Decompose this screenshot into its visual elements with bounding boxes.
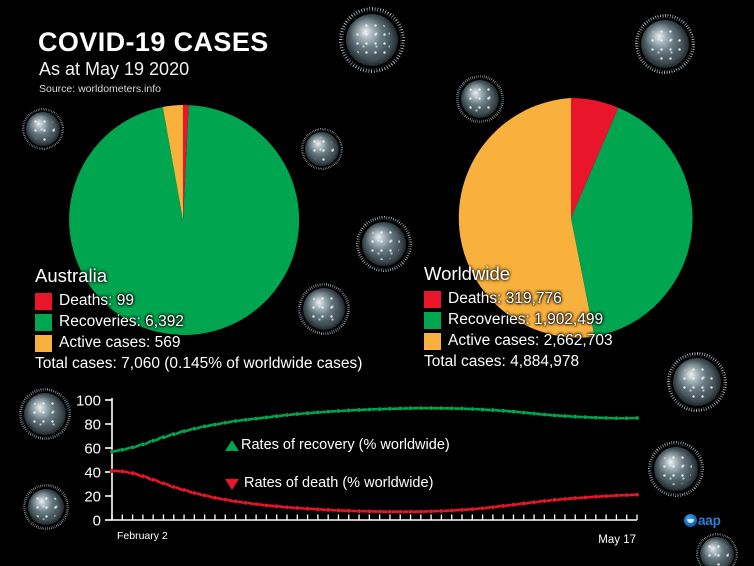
series-marker	[625, 416, 629, 420]
series-marker	[120, 470, 124, 474]
series-marker	[398, 510, 402, 514]
series-marker	[491, 505, 495, 509]
series-marker	[131, 471, 135, 475]
series-marker	[573, 415, 577, 419]
series-marker	[141, 474, 145, 478]
australia-legend: Australia Deaths: 99 Recoveries: 6,392 A…	[35, 265, 362, 373]
series-marker	[151, 439, 155, 443]
infographic-canvas: COVID-19 CASES As at May 19 2020 Source:…	[0, 0, 754, 566]
triangle-down-icon	[225, 479, 239, 490]
series-marker	[604, 416, 608, 420]
series-marker	[625, 493, 629, 497]
series-marker	[501, 504, 505, 508]
series-marker	[295, 506, 299, 510]
legend-row: Deaths: 319,776	[424, 289, 613, 309]
legend-row: Active cases: 2,662,703	[424, 331, 613, 351]
series-marker	[203, 425, 207, 429]
series-marker	[532, 500, 536, 504]
y-axis-tick-label: 80	[84, 417, 101, 434]
series-marker	[326, 410, 330, 414]
series-marker	[419, 510, 423, 514]
series-marker	[378, 407, 382, 411]
series-marker	[553, 498, 557, 502]
series-marker	[367, 408, 371, 412]
worldwide-active-label: Active cases: 2,662,703	[448, 332, 613, 350]
y-axis-tick-label: 100	[76, 393, 101, 410]
series-marker	[491, 408, 495, 412]
series-marker	[285, 505, 289, 509]
series-marker	[110, 450, 114, 454]
series-marker	[460, 407, 464, 411]
recoveries-swatch	[35, 314, 52, 331]
aap-logo: aap	[684, 513, 721, 528]
worldwide-total-label: Total cases: 4,884,978	[424, 353, 613, 371]
legend-row: Recoveries: 1,902,499	[424, 310, 613, 330]
active-swatch	[35, 335, 52, 352]
series-marker	[357, 509, 361, 513]
series-marker	[615, 494, 619, 498]
aap-logo-text: aap	[698, 513, 721, 528]
series-marker	[182, 429, 186, 433]
series-marker	[512, 410, 516, 414]
series-marker	[512, 503, 516, 507]
worldwide-recoveries-label: Recoveries: 1,902,499	[448, 311, 603, 329]
series-marker	[553, 413, 557, 417]
y-axis-tick-label: 0	[93, 513, 101, 530]
series-marker	[522, 411, 526, 415]
series-marker	[635, 493, 639, 497]
series-marker	[440, 509, 444, 513]
series-marker	[563, 414, 567, 418]
series-marker	[275, 504, 279, 508]
series-marker	[470, 507, 474, 511]
series-marker	[151, 478, 155, 482]
series-marker	[470, 407, 474, 411]
australia-active-label: Active cases: 569	[59, 334, 180, 352]
series-marker	[542, 413, 546, 417]
series-marker	[182, 488, 186, 492]
deaths-swatch	[35, 293, 52, 310]
worldwide-legend-title: Worldwide	[424, 263, 613, 285]
series-marker	[162, 435, 166, 439]
series-marker	[306, 507, 310, 511]
y-axis-tick-label: 60	[84, 441, 101, 458]
series-marker	[275, 414, 279, 418]
series-marker	[450, 407, 454, 411]
series-marker	[542, 499, 546, 503]
series-marker	[192, 491, 196, 495]
header-block: COVID-19 CASES As at May 19 2020 Source:…	[38, 28, 269, 95]
y-axis-tick-label: 40	[84, 465, 101, 482]
series-marker	[378, 510, 382, 514]
series-marker	[388, 510, 392, 514]
series-marker	[306, 411, 310, 415]
x-axis-end-label: May 17	[598, 534, 636, 546]
series-marker	[584, 415, 588, 419]
series-marker	[522, 502, 526, 506]
australia-recoveries-label: Recoveries: 6,392	[59, 313, 184, 331]
series-marker	[223, 421, 227, 425]
series-marker	[594, 495, 598, 499]
series-marker	[131, 446, 135, 450]
worldwide-deaths-label: Deaths: 319,776	[448, 290, 562, 308]
series-marker	[357, 408, 361, 412]
series-marker	[254, 502, 258, 506]
triangle-up-icon	[225, 440, 239, 451]
data-source-label: Source: worldometers.info	[39, 83, 269, 95]
series-marker	[213, 423, 217, 427]
series-marker	[203, 494, 207, 498]
series-marker	[337, 509, 341, 513]
series-marker	[604, 494, 608, 498]
series-marker	[110, 469, 114, 473]
series-marker	[409, 406, 413, 410]
series-marker	[172, 432, 176, 436]
series-marker	[594, 416, 598, 420]
aap-mark-icon	[684, 514, 697, 527]
series-marker	[501, 409, 505, 413]
y-axis-tick-label: 20	[84, 489, 101, 506]
series-marker	[409, 510, 413, 514]
series-marker	[141, 443, 145, 447]
australia-deaths-label: Deaths: 99	[59, 292, 134, 310]
death-series-label: Rates of death (% worldwide)	[244, 475, 433, 491]
series-marker	[563, 497, 567, 501]
worldwide-legend: Worldwide Deaths: 319,776 Recoveries: 1,…	[424, 263, 613, 371]
series-marker	[347, 409, 351, 413]
page-subtitle: As at May 19 2020	[39, 59, 269, 80]
legend-row: Recoveries: 6,392	[35, 312, 362, 332]
legend-row: Active cases: 569	[35, 333, 362, 353]
series-marker	[337, 409, 341, 413]
recoveries-swatch	[424, 312, 441, 329]
series-marker	[234, 419, 238, 423]
series-marker	[532, 412, 536, 416]
series-marker	[326, 508, 330, 512]
legend-row: Deaths: 99	[35, 291, 362, 311]
series-marker	[285, 413, 289, 417]
series-marker	[265, 416, 269, 420]
series-marker	[584, 496, 588, 500]
australia-total-label: Total cases: 7,060 (0.145% of worldwide …	[35, 355, 362, 373]
series-marker	[450, 509, 454, 513]
series-marker	[316, 410, 320, 414]
series-marker	[192, 427, 196, 431]
series-marker	[429, 509, 433, 513]
series-marker	[440, 406, 444, 410]
series-marker	[223, 498, 227, 502]
series-marker	[265, 503, 269, 507]
series-marker	[573, 496, 577, 500]
series-marker	[388, 407, 392, 411]
series-marker	[213, 496, 217, 500]
series-marker	[481, 408, 485, 412]
series-marker	[398, 407, 402, 411]
series-marker	[172, 485, 176, 489]
series-marker	[234, 500, 238, 504]
series-marker	[244, 501, 248, 505]
series-marker	[244, 418, 248, 422]
series-marker	[347, 509, 351, 513]
series-marker	[120, 448, 124, 452]
page-title: COVID-19 CASES	[38, 28, 269, 56]
series-marker	[635, 416, 639, 420]
series-marker	[419, 406, 423, 410]
series-marker	[162, 482, 166, 486]
series-marker	[481, 506, 485, 510]
series-marker	[316, 507, 320, 511]
australia-legend-title: Australia	[35, 265, 362, 287]
active-swatch	[424, 333, 441, 350]
series-marker	[460, 508, 464, 512]
series-marker	[254, 417, 258, 421]
x-axis-start-label: February 2	[117, 530, 168, 542]
recovery-series-label: Rates of recovery (% worldwide)	[241, 437, 450, 453]
series-marker	[367, 509, 371, 513]
deaths-swatch	[424, 291, 441, 308]
series-marker	[295, 412, 299, 416]
series-marker	[429, 406, 433, 410]
series-marker	[615, 416, 619, 420]
